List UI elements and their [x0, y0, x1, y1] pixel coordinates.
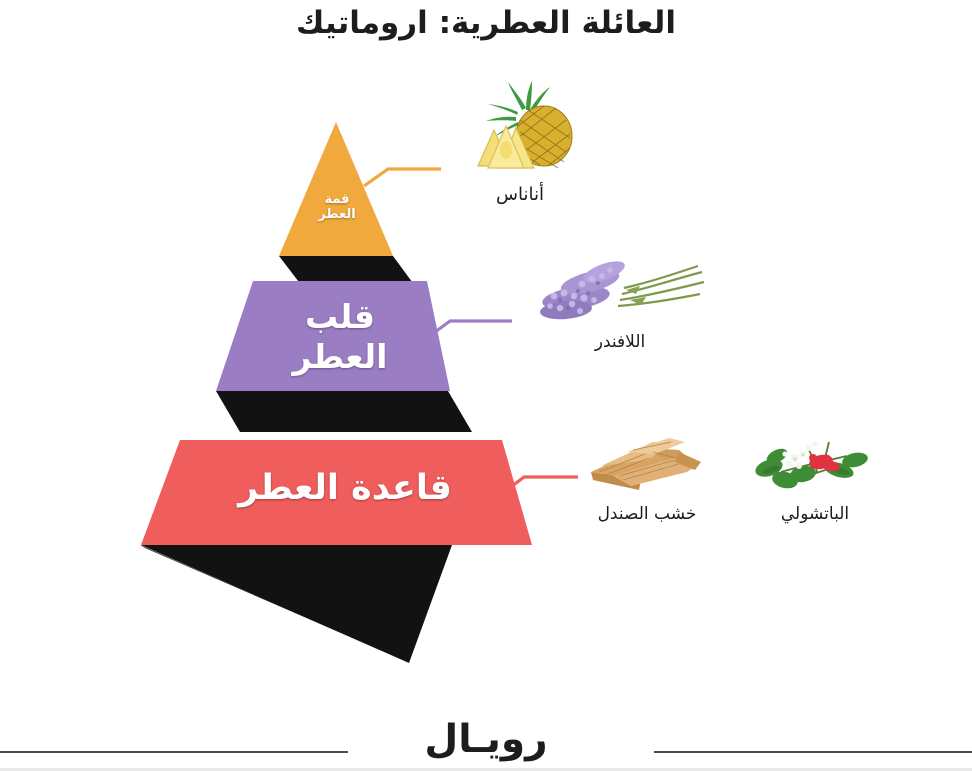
ingredient-label-sandalwood: خشب الصندل: [572, 504, 722, 524]
brand-name: رويـال: [0, 717, 972, 762]
patchouli-icon: [751, 428, 879, 500]
lavender-icon: [530, 248, 710, 328]
ingredient-pineapple: أناناس: [440, 80, 600, 205]
ingredient-lavender: اللافندر: [520, 248, 720, 352]
ingredient-sandalwood: خشب الصندل: [572, 428, 722, 524]
tier-shape-middle[interactable]: [216, 281, 450, 391]
infographic-page: العائلة العطرية: اروماتيك: [0, 0, 972, 771]
base-tier-shadow-main: [141, 545, 452, 663]
connector-middle: [427, 321, 512, 338]
connector-top: [364, 169, 441, 186]
sandalwood-icon: [583, 428, 711, 500]
pineapple-icon: [460, 80, 580, 180]
middle-tier-shadow: [216, 391, 472, 432]
ingredient-label-pineapple: أناناس: [440, 184, 600, 205]
tier-shape-top[interactable]: [279, 122, 393, 256]
ingredient-label-lavender: اللافندر: [520, 332, 720, 352]
tier-shape-base[interactable]: [141, 440, 532, 545]
footer: رويـال: [0, 701, 972, 771]
ingredient-patchouli: الباتشولي: [740, 428, 890, 524]
ingredient-label-patchouli: الباتشولي: [740, 504, 890, 524]
